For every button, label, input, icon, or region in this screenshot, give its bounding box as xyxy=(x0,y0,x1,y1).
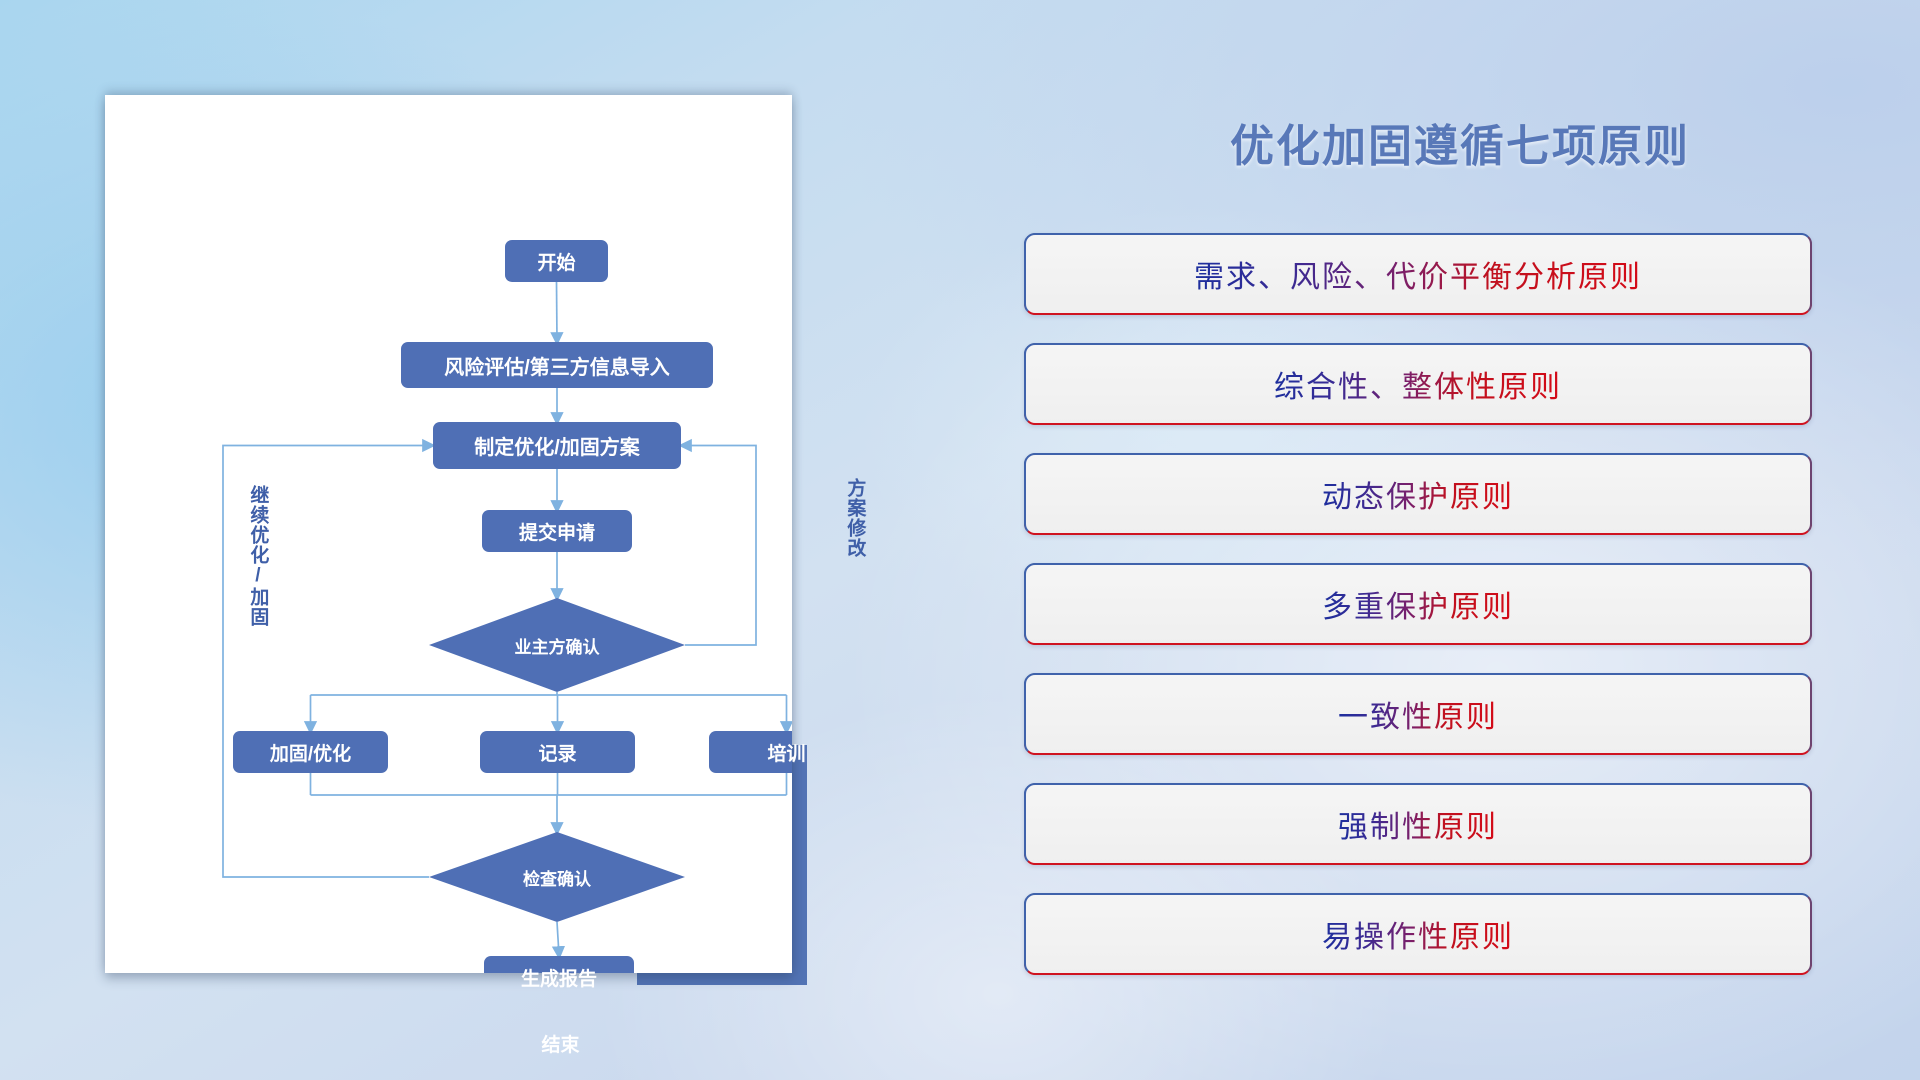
principle-card[interactable]: 综合性、整体性原则 xyxy=(1024,343,1812,425)
principle-card-label: 多重保护原则 xyxy=(1322,582,1514,626)
principle-card[interactable]: 一致性原则 xyxy=(1024,673,1812,755)
principle-card-label: 需求、风险、代价平衡分析原则 xyxy=(1194,252,1642,296)
flowchart-card: 继续优化/加固 方案修改 开始风险评估/第三方信息导入制定优化/加固方案提交申请… xyxy=(105,95,792,973)
principles-list: 需求、风险、代价平衡分析原则综合性、整体性原则动态保护原则多重保护原则一致性原则… xyxy=(1024,233,1812,1003)
flowchart-diagram xyxy=(105,95,792,973)
flow-label-plan-revision: 方案修改 xyxy=(845,478,864,558)
principle-card-label: 动态保护原则 xyxy=(1322,472,1514,516)
principle-card[interactable]: 易操作性原则 xyxy=(1024,893,1812,975)
principle-card[interactable]: 多重保护原则 xyxy=(1024,563,1812,645)
principle-card[interactable]: 需求、风险、代价平衡分析原则 xyxy=(1024,233,1812,315)
principle-card[interactable]: 强制性原则 xyxy=(1024,783,1812,865)
flow-label-continue-optimize: 继续优化/加固 xyxy=(248,485,267,627)
principle-card-label: 易操作性原则 xyxy=(1322,912,1514,956)
principle-card-label: 一致性原则 xyxy=(1338,692,1498,736)
principles-title: 优化加固遵循七项原则 xyxy=(1150,110,1770,174)
principle-card-label: 强制性原则 xyxy=(1338,802,1498,846)
principle-card-label: 综合性、整体性原则 xyxy=(1274,362,1562,406)
principle-card[interactable]: 动态保护原则 xyxy=(1024,453,1812,535)
